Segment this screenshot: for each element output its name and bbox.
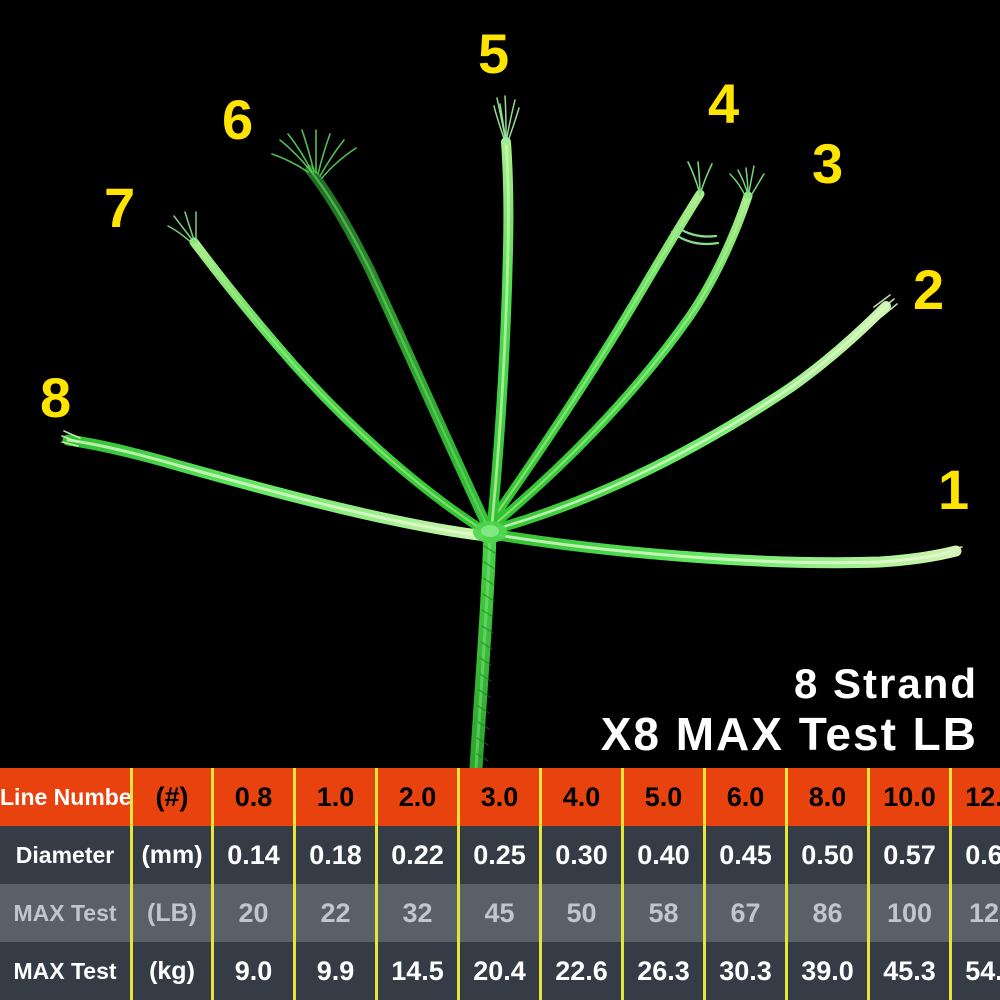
cell-diameter-7: 0.45 <box>705 826 787 884</box>
splay-convergence-point <box>473 521 507 543</box>
main-braided-stem <box>476 534 495 768</box>
cell-diameter-4: 0.25 <box>459 826 541 884</box>
strand-7 <box>168 212 486 532</box>
callout-number-3: 3 <box>812 136 843 192</box>
cell-line-number-6: 5.0 <box>623 768 705 826</box>
cell-max-test-lb-2: 22 <box>295 884 377 942</box>
callout-number-5: 5 <box>478 26 509 82</box>
callout-number-4: 4 <box>708 76 739 132</box>
table-row-max-test-kg: MAX Test (kg) 9.0 9.9 14.5 20.4 22.6 26.… <box>0 942 1000 1000</box>
cell-line-number-4: 3.0 <box>459 768 541 826</box>
cell-max-test-kg-1: 9.0 <box>213 942 295 1000</box>
product-title-block: 8 Strand X8 MAX Test LB <box>601 660 978 760</box>
cell-max-test-kg-7: 30.3 <box>705 942 787 1000</box>
callout-number-2: 2 <box>913 262 944 318</box>
cell-diameter-5: 0.30 <box>541 826 623 884</box>
cell-line-number-3: 2.0 <box>377 768 459 826</box>
cell-max-test-lb-10: 120 <box>951 884 1000 942</box>
cell-line-number-5: 4.0 <box>541 768 623 826</box>
cell-max-test-kg-9: 45.3 <box>869 942 951 1000</box>
strand-2 <box>492 295 897 530</box>
strand-1 <box>492 534 962 563</box>
cell-max-test-lb-4: 45 <box>459 884 541 942</box>
table-row-diameter: Diameter (mm) 0.14 0.18 0.22 0.25 0.30 0… <box>0 826 1000 884</box>
table-row-max-test-lb: MAX Test (LB) 20 22 32 45 50 58 67 86 10… <box>0 884 1000 942</box>
cell-max-test-lb-5: 50 <box>541 884 623 942</box>
cell-diameter-3: 0.22 <box>377 826 459 884</box>
strand-3 <box>490 166 764 528</box>
callout-number-1: 1 <box>938 462 969 518</box>
cell-max-test-lb-8: 86 <box>787 884 869 942</box>
row-label-max-test-kg: MAX Test <box>0 942 132 1000</box>
cell-diameter-10: 0.67 <box>951 826 1000 884</box>
row-unit-max-test-lb: (LB) <box>132 884 213 942</box>
cell-line-number-8: 8.0 <box>787 768 869 826</box>
cell-max-test-kg-3: 14.5 <box>377 942 459 1000</box>
product-title-strand-count: 8 Strand <box>601 660 978 708</box>
cell-diameter-2: 0.18 <box>295 826 377 884</box>
product-title-max-test: X8 MAX Test LB <box>601 708 978 760</box>
product-infographic: 1 2 3 4 5 6 7 8 8 Strand X8 MAX Test LB … <box>0 0 1000 1000</box>
cell-max-test-kg-5: 22.6 <box>541 942 623 1000</box>
cell-diameter-6: 0.40 <box>623 826 705 884</box>
strand-5 <box>492 96 519 524</box>
cell-max-test-lb-1: 20 <box>213 884 295 942</box>
cell-line-number-2: 1.0 <box>295 768 377 826</box>
cell-line-number-9: 10.0 <box>869 768 951 826</box>
specification-table: Line Number (#) 0.8 1.0 2.0 3.0 4.0 5.0 … <box>0 768 1000 1000</box>
cell-max-test-kg-4: 20.4 <box>459 942 541 1000</box>
cell-diameter-9: 0.57 <box>869 826 951 884</box>
row-label-diameter: Diameter <box>0 826 132 884</box>
callout-number-7: 7 <box>104 180 135 236</box>
cell-max-test-kg-8: 39.0 <box>787 942 869 1000</box>
row-label-line-number: Line Number <box>0 768 132 826</box>
cell-line-number-7: 6.0 <box>705 768 787 826</box>
cell-max-test-lb-6: 58 <box>623 884 705 942</box>
strand-6 <box>272 130 488 528</box>
strand-4 <box>488 162 718 526</box>
cell-line-number-10: 12.0 <box>951 768 1000 826</box>
row-label-max-test-lb: MAX Test <box>0 884 132 942</box>
cell-max-test-kg-6: 26.3 <box>623 942 705 1000</box>
cell-max-test-lb-9: 100 <box>869 884 951 942</box>
fishing-line-strands-illustration <box>0 0 1000 768</box>
cell-line-number-1: 0.8 <box>213 768 295 826</box>
cell-max-test-kg-2: 9.9 <box>295 942 377 1000</box>
cell-max-test-kg-10: 54.4 <box>951 942 1000 1000</box>
row-unit-diameter: (mm) <box>132 826 213 884</box>
row-unit-line-number: (#) <box>132 768 213 826</box>
cell-diameter-8: 0.50 <box>787 826 869 884</box>
cell-diameter-1: 0.14 <box>213 826 295 884</box>
braided-line-photo: 1 2 3 4 5 6 7 8 8 Strand X8 MAX Test LB <box>0 0 1000 768</box>
callout-number-6: 6 <box>222 92 253 148</box>
callout-number-8: 8 <box>40 370 71 426</box>
table-row-line-number: Line Number (#) 0.8 1.0 2.0 3.0 4.0 5.0 … <box>0 768 1000 826</box>
cell-max-test-lb-7: 67 <box>705 884 787 942</box>
row-unit-max-test-kg: (kg) <box>132 942 213 1000</box>
cell-max-test-lb-3: 32 <box>377 884 459 942</box>
